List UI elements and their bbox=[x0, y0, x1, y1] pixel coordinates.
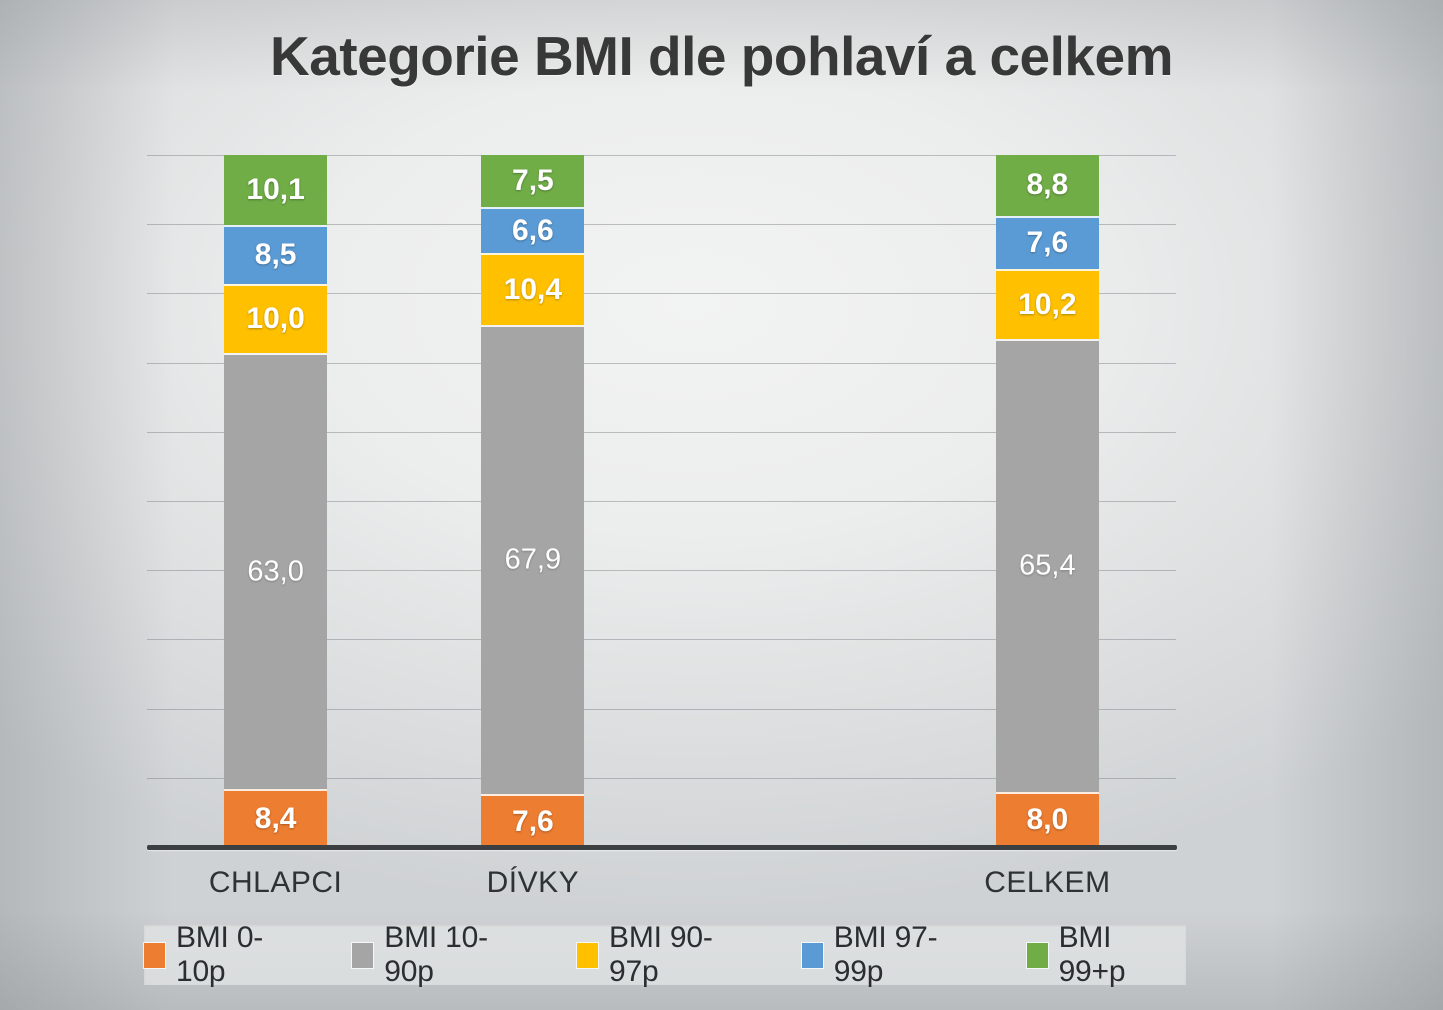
bar-segment-bmi-0-10p[interactable]: 7,6 bbox=[481, 794, 584, 847]
data-label: 10,0 bbox=[246, 302, 304, 336]
data-label: 7,6 bbox=[512, 805, 554, 839]
category-label-dívky: DÍVKY bbox=[404, 866, 661, 900]
bar-segment-bmi-97-99p[interactable]: 7,6 bbox=[996, 216, 1099, 269]
bar-dívky[interactable]: 7,56,610,467,97,6 bbox=[481, 155, 584, 847]
legend-swatch-icon bbox=[802, 943, 823, 968]
bar-segment-bmi-99-p[interactable]: 10,1 bbox=[224, 155, 327, 225]
bmi-stacked-bar-chart: Kategorie BMI dle pohlaví a celkem 10,18… bbox=[0, 0, 1443, 1010]
bar-celkem[interactable]: 8,87,610,265,48,0 bbox=[996, 155, 1099, 847]
bar-segment-bmi-99-p[interactable]: 7,5 bbox=[481, 155, 584, 207]
legend-swatch-icon bbox=[577, 943, 598, 968]
bar-segment-bmi-0-10p[interactable]: 8,4 bbox=[224, 789, 327, 847]
data-label: 7,6 bbox=[1027, 226, 1069, 260]
bar-segment-bmi-10-90p[interactable]: 65,4 bbox=[996, 339, 1099, 792]
bar-segment-bmi-0-10p[interactable]: 8,0 bbox=[996, 792, 1099, 847]
bar-segment-bmi-97-99p[interactable]: 6,6 bbox=[481, 207, 584, 253]
legend-label: BMI 0-10p bbox=[176, 921, 312, 989]
bar-segment-bmi-97-99p[interactable]: 8,5 bbox=[224, 225, 327, 284]
chart-title: Kategorie BMI dle pohlaví a celkem bbox=[0, 24, 1443, 88]
legend-swatch-icon bbox=[1027, 943, 1048, 968]
data-label: 8,0 bbox=[1027, 803, 1069, 837]
x-axis-line bbox=[147, 845, 1177, 850]
data-label: 8,8 bbox=[1027, 168, 1069, 202]
category-label-celkem: CELKEM bbox=[919, 866, 1176, 900]
bar-segment-bmi-10-90p[interactable]: 67,9 bbox=[481, 325, 584, 795]
bar-chlapci[interactable]: 10,18,510,063,08,4 bbox=[224, 155, 327, 847]
data-label: 10,2 bbox=[1018, 288, 1076, 322]
legend-item-bmi-99-p[interactable]: BMI 99+p bbox=[1027, 921, 1186, 989]
legend-label: BMI 10-90p bbox=[384, 921, 537, 989]
legend-item-bmi-90-97p[interactable]: BMI 90-97p bbox=[577, 921, 762, 989]
legend-label: BMI 99+p bbox=[1059, 921, 1186, 989]
data-label: 6,6 bbox=[512, 214, 554, 248]
data-label: 65,4 bbox=[1019, 550, 1075, 583]
legend-label: BMI 97-99p bbox=[834, 921, 987, 989]
bar-segment-bmi-99-p[interactable]: 8,8 bbox=[996, 155, 1099, 216]
data-label: 8,4 bbox=[255, 802, 297, 836]
data-label: 7,5 bbox=[512, 164, 554, 198]
bar-segment-bmi-90-97p[interactable]: 10,0 bbox=[224, 284, 327, 353]
category-label-chlapci: CHLAPCI bbox=[147, 866, 404, 900]
legend-item-bmi-0-10p[interactable]: BMI 0-10p bbox=[144, 921, 312, 989]
legend-swatch-icon bbox=[352, 943, 373, 968]
data-label: 67,9 bbox=[505, 544, 561, 577]
legend-item-bmi-10-90p[interactable]: BMI 10-90p bbox=[352, 921, 537, 989]
chart-legend: BMI 0-10pBMI 10-90pBMI 90-97pBMI 97-99pB… bbox=[144, 925, 1186, 985]
legend-item-bmi-97-99p[interactable]: BMI 97-99p bbox=[802, 921, 987, 989]
bar-segment-bmi-10-90p[interactable]: 63,0 bbox=[224, 353, 327, 789]
data-label: 8,5 bbox=[255, 238, 297, 272]
bar-segment-bmi-90-97p[interactable]: 10,4 bbox=[481, 253, 584, 325]
legend-label: BMI 90-97p bbox=[609, 921, 762, 989]
bar-segment-bmi-90-97p[interactable]: 10,2 bbox=[996, 269, 1099, 340]
data-label: 63,0 bbox=[247, 555, 303, 588]
legend-swatch-icon bbox=[144, 943, 165, 968]
plot-area: 10,18,510,063,08,47,56,610,467,97,68,87,… bbox=[147, 155, 1176, 847]
data-label: 10,4 bbox=[504, 273, 562, 307]
data-label: 10,1 bbox=[246, 173, 304, 207]
